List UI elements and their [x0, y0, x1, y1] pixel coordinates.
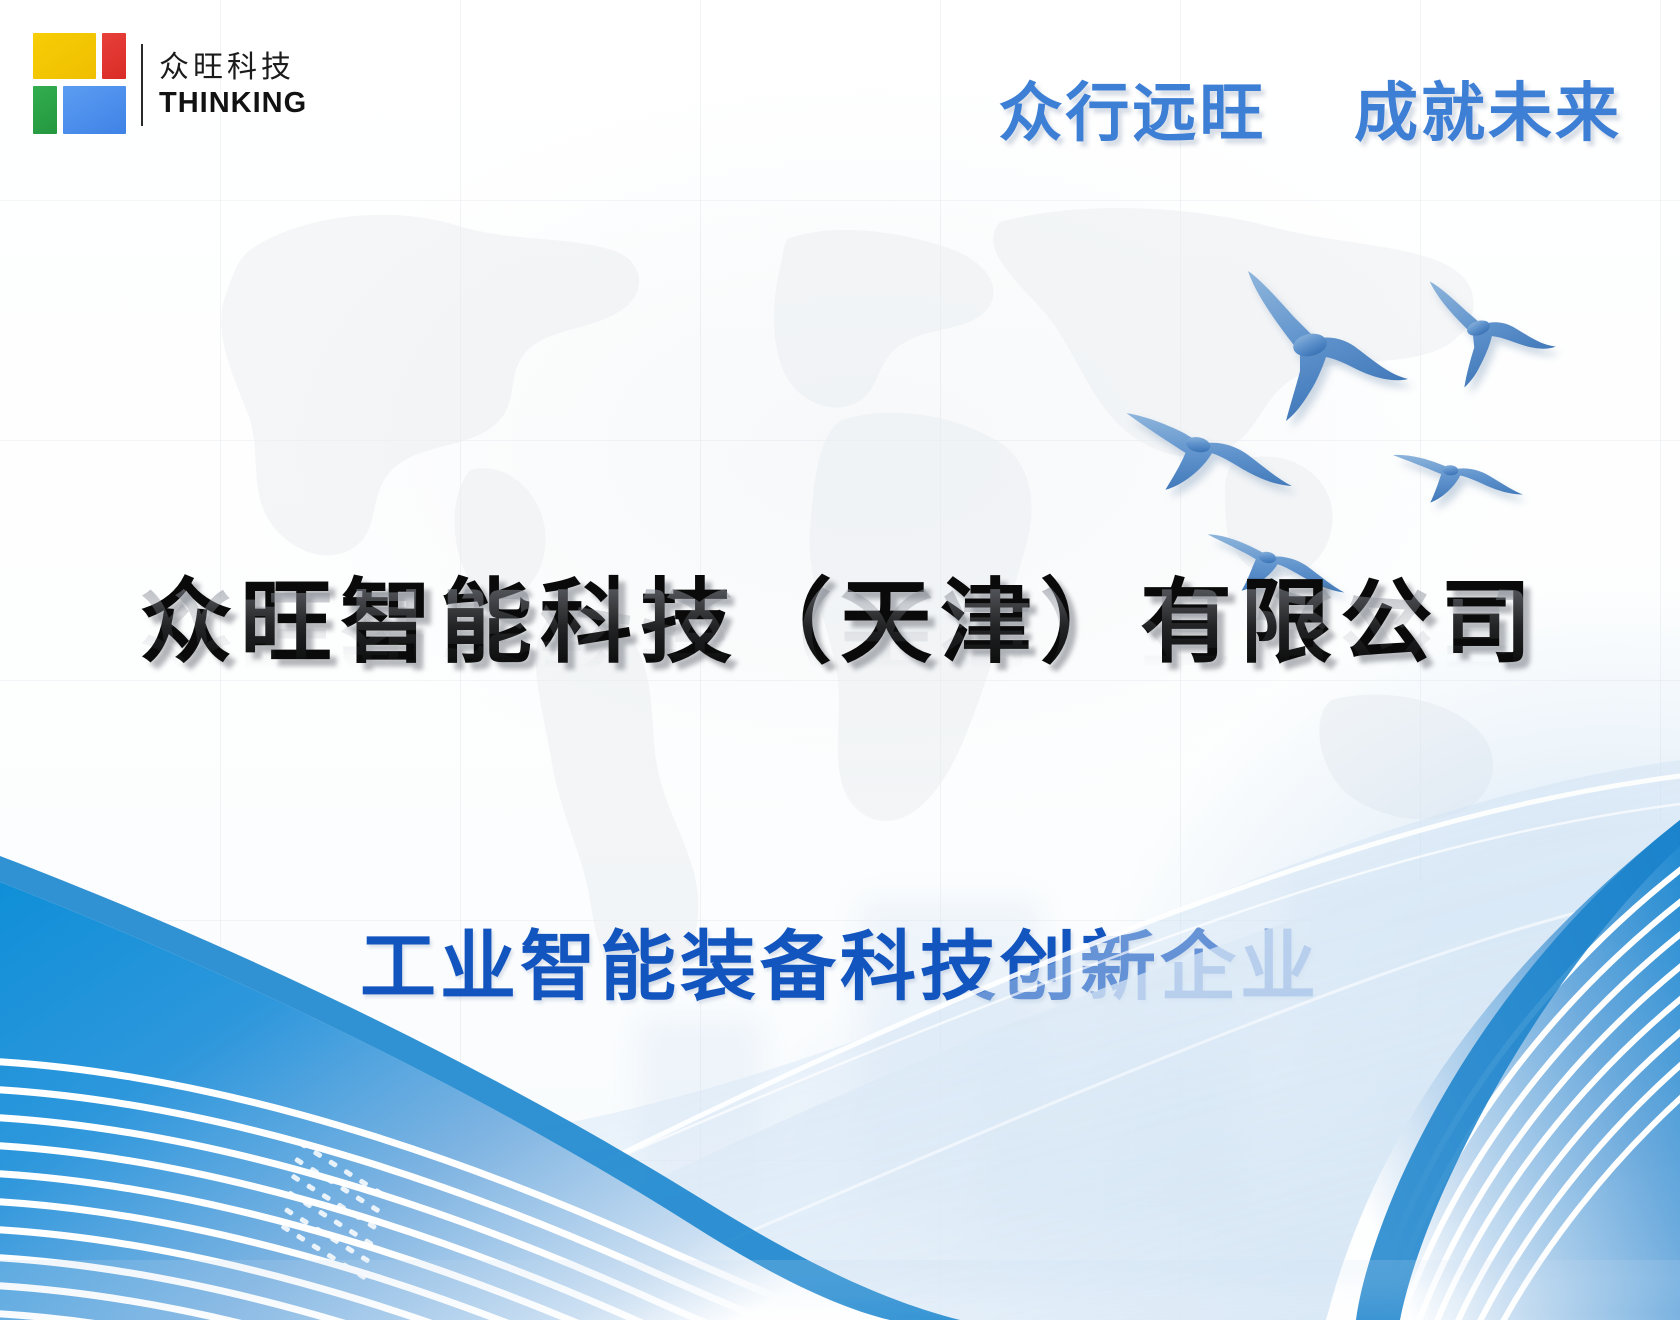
- slogan-part-one: 众行远旺: [998, 77, 1266, 149]
- slogan-tagline: 众行远旺 成就未来: [998, 62, 1622, 154]
- main-title-block: 众旺智能科技（天津）有限公司 众旺智能科技（天津）有限公司: [0, 575, 1680, 774]
- yellow-tile-icon: [33, 33, 96, 79]
- logo-english-name: THINKING: [159, 89, 307, 118]
- blue-ribbon-wave-graphic: [0, 760, 1680, 1320]
- company-subtitle: 工业智能装备科技创新企业: [0, 905, 1680, 1015]
- red-tile-icon: [102, 33, 126, 79]
- company-title-reflection: 众旺智能科技（天津）有限公司: [0, 579, 1680, 677]
- blue-tile-icon: [63, 86, 126, 134]
- green-tile-icon: [33, 86, 57, 134]
- title-slide: 众旺科技 THINKING 众行远旺 成就未来 众旺智能科技（天津）有限公司 众…: [0, 0, 1680, 1320]
- slogan-part-two: 成就未来: [1354, 77, 1622, 149]
- company-logo[interactable]: 众旺科技 THINKING: [33, 33, 307, 137]
- logo-wordmark: 众旺科技 THINKING: [159, 53, 307, 118]
- logo-chinese-name: 众旺科技: [159, 53, 307, 83]
- logo-divider: [141, 44, 143, 126]
- logo-mark-tiles: [33, 33, 137, 137]
- flying-seagulls-graphic: [1140, 195, 1560, 615]
